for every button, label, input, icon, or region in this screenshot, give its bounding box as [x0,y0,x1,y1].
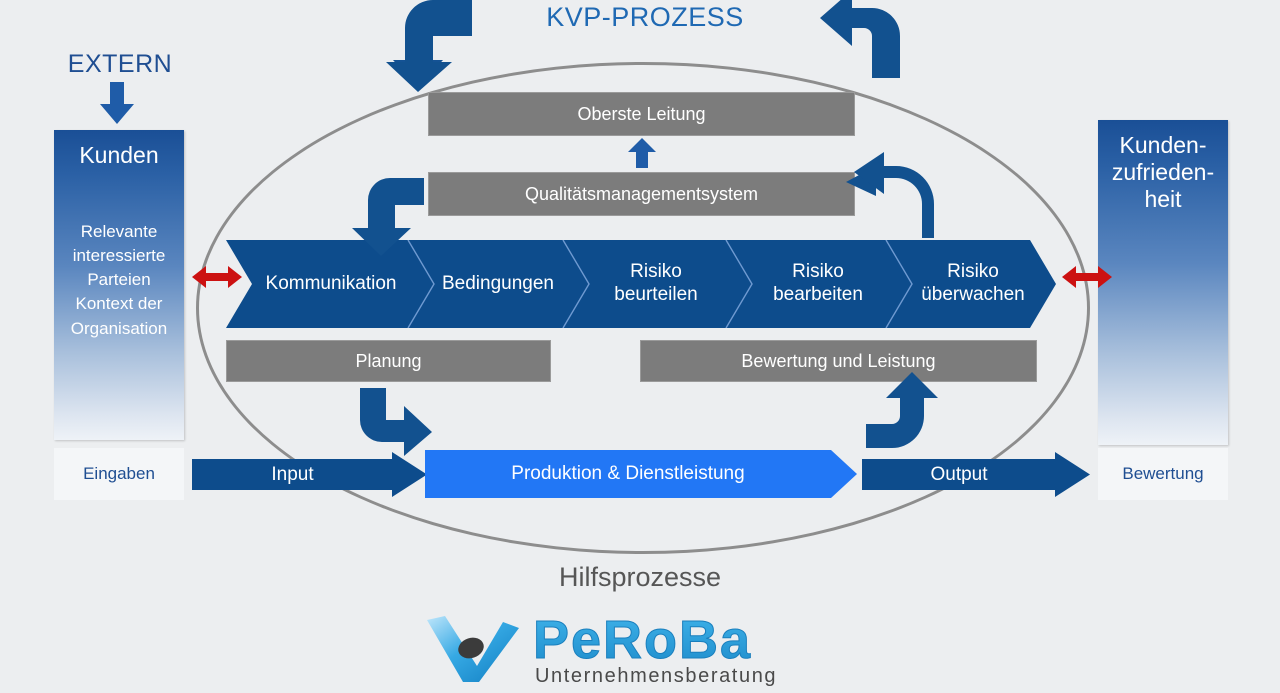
right-panel-title: Kunden- zufrieden- heit [1098,132,1228,213]
flow-produktion-dienstleistung[interactable]: Produktion & Dienstleistung [425,450,857,498]
input-arrow-svg [192,452,427,497]
chevron-band-svg [226,240,1056,328]
chevron-right-icon [425,450,857,498]
flow-output[interactable]: Output [862,452,1090,497]
output-arrow-svg [862,452,1090,497]
right-panel-title-line: zufrieden- [1098,159,1228,186]
process-chevron-band: Kommunikation Bedingungen Risiko beurtei… [226,240,1056,328]
left-panel-body-line: Parteien [54,268,184,292]
page-title: KVP-PROZESS [455,0,835,35]
logo-wordmark: PeRoBa [533,610,752,670]
bewertung-label: Bewertung [1098,448,1228,500]
left-panel-body: Relevante interessierte Parteien Kontext… [54,220,184,341]
left-panel-body-line: interessierte [54,244,184,268]
customer-satisfaction-panel: Kunden- zufrieden- heit [1098,120,1228,445]
peroba-logo: PeRoBa Unternehmensberatung [415,608,865,688]
left-panel-body-line: Relevante [54,220,184,244]
extern-label: EXTERN [55,50,185,79]
grey-box-bewertung-und-leistung: Bewertung und Leistung [640,340,1037,382]
hilfsprozesse-label: Hilfsprozesse [490,560,790,596]
diagram-canvas: EXTERN KVP-PROZESS Kunden Relevante inte… [0,0,1280,693]
grey-box-oberste-leitung: Oberste Leitung [428,92,855,136]
arrow-right-icon [862,452,1090,497]
grey-box-planung: Planung [226,340,551,382]
chevron-band-shape [226,240,1056,328]
flow-input[interactable]: Input [192,452,427,497]
customer-input-panel: Kunden Relevante interessierte Parteien … [54,130,184,440]
logo-svg: PeRoBa Unternehmensberatung [415,608,865,688]
left-panel-body-line: Kontext der [54,292,184,316]
left-panel-body-line: Organisation [54,317,184,341]
grey-box-qualitaetsmanagementsystem: Qualitätsmanagementsystem [428,172,855,216]
right-panel-title-line: Kunden- [1098,132,1228,159]
eingaben-label: Eingaben [54,448,184,500]
logo-check-icon [427,616,519,682]
arrow-right-icon [192,452,427,497]
right-panel-title-line: heit [1098,186,1228,213]
logo-tagline: Unternehmensberatung [535,665,777,687]
produktion-chevron-svg [425,450,857,498]
left-panel-title: Kunden [54,142,184,169]
arrow-down-icon [100,82,134,124]
